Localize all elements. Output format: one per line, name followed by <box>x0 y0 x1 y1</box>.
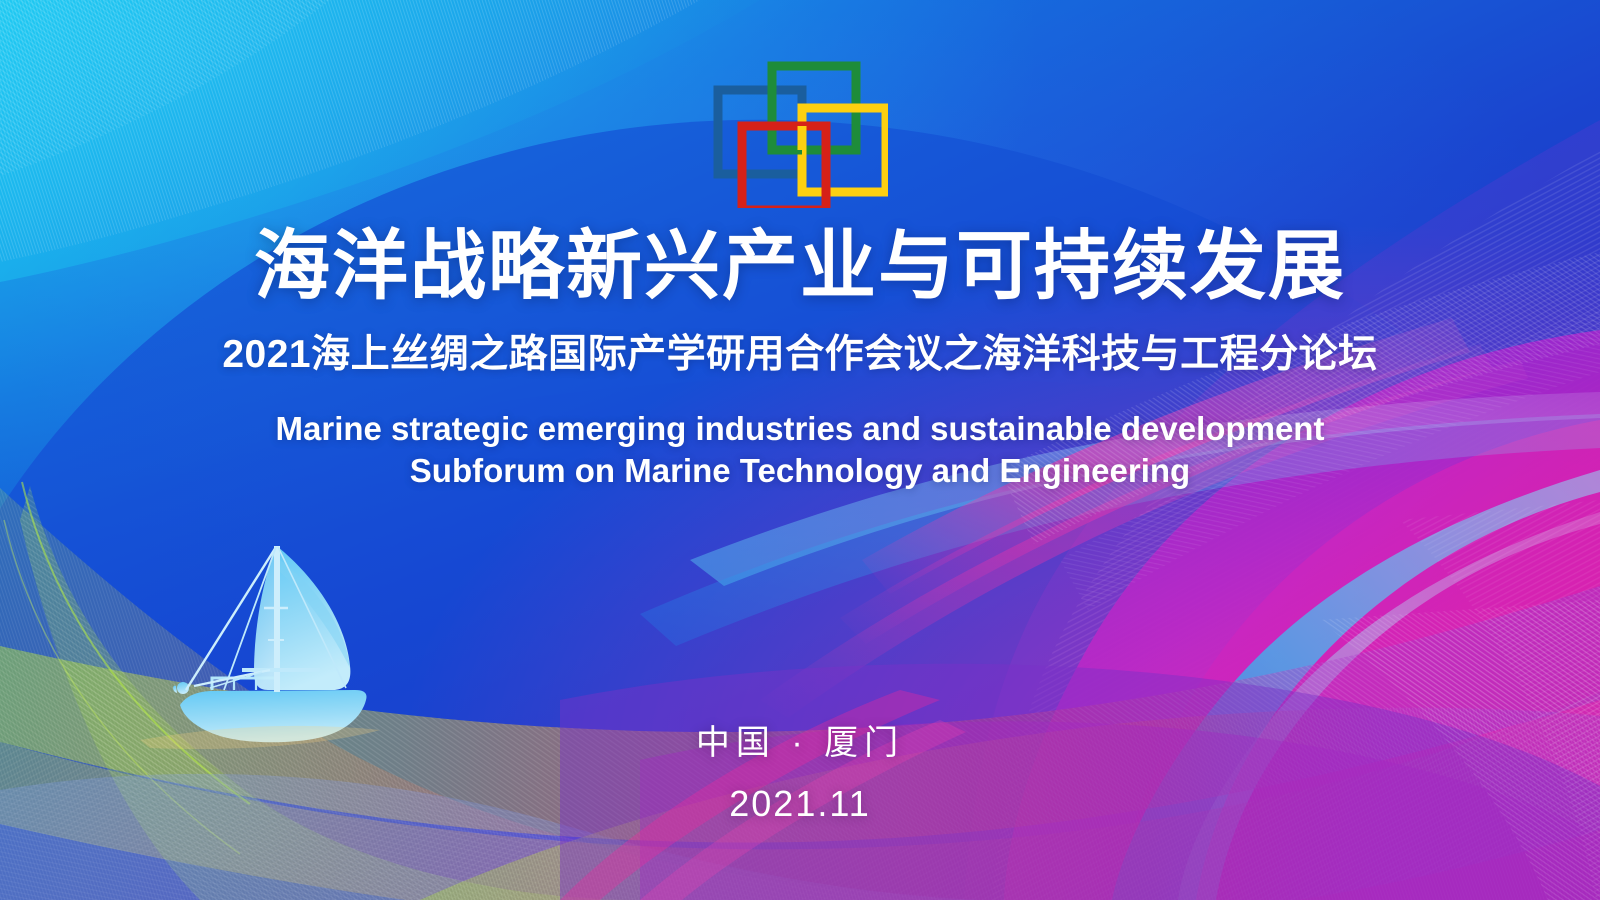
subtitle-english-line2: Subforum on Marine Technology and Engine… <box>0 450 1600 492</box>
four-interlocking-squares-icon <box>698 56 888 208</box>
subtitle-english-line1: Marine strategic emerging industries and… <box>276 410 1325 447</box>
date-text: 2021.11 <box>0 782 1600 826</box>
conference-banner: 海洋战略新兴产业与可持续发展 2021海上丝绸之路国际产学研用合作会议之海洋科技… <box>0 0 1600 900</box>
page-title: 海洋战略新兴产业与可持续发展 <box>0 224 1600 310</box>
subtitle-chinese: 2021海上丝绸之路国际产学研用合作会议之海洋科技与工程分论坛 <box>0 331 1600 379</box>
venue-text: 中国 · 厦门 <box>0 722 1600 764</box>
subtitle-english: Marine strategic emerging industries and… <box>0 408 1600 492</box>
conference-logo <box>698 56 888 208</box>
